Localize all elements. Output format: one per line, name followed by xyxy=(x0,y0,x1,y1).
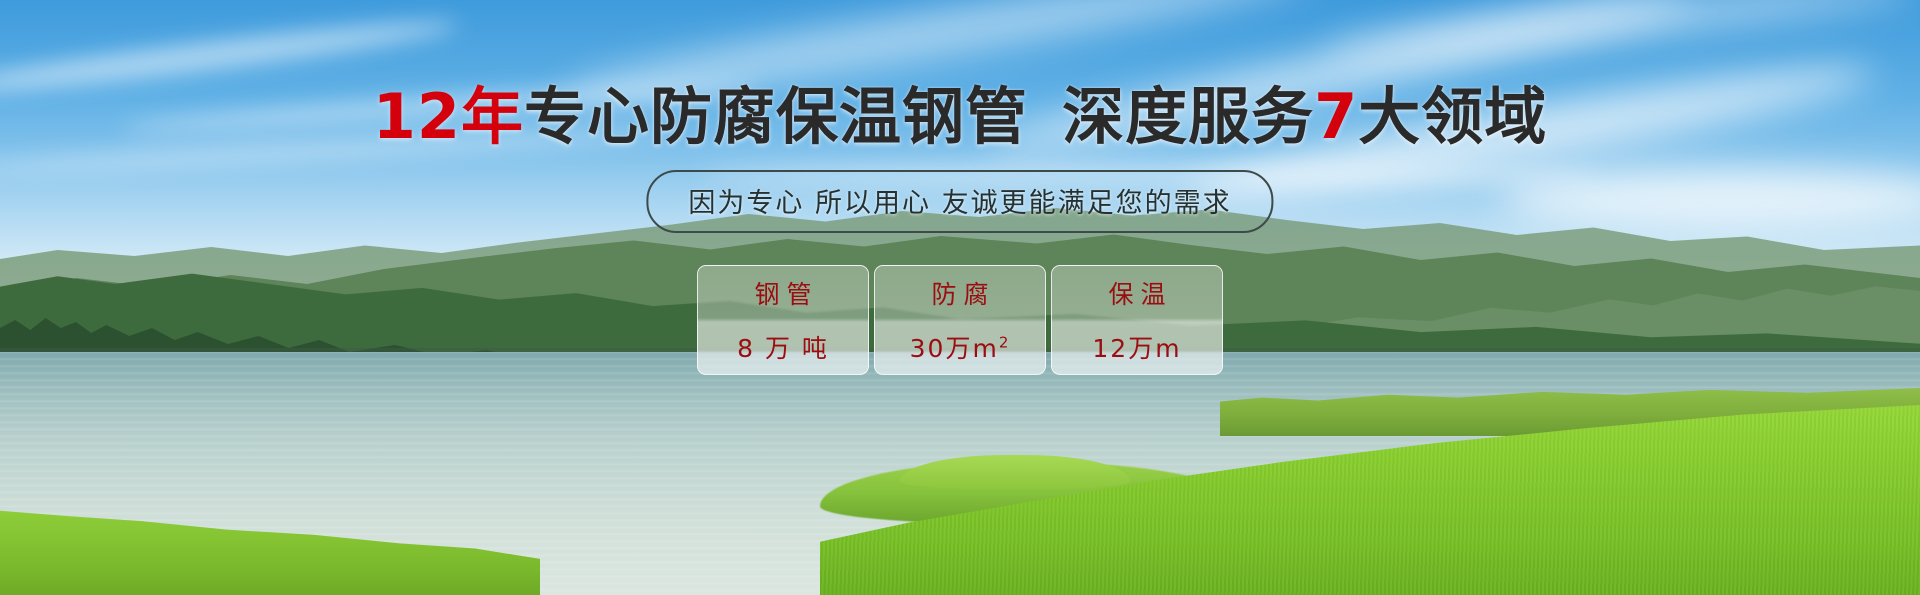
stat-card-value: 30万m2 xyxy=(910,329,1011,365)
headline-main-right-lead: 深度服务 xyxy=(1062,80,1314,153)
headline-fields-number: 7 xyxy=(1314,80,1358,153)
banner-content: 12年专心防腐保温钢管深度服务7大领域 因为专心 所以用心 友诚更能满足您的需求… xyxy=(0,0,1920,595)
stat-card-value-superscript: 2 xyxy=(999,334,1011,352)
promo-banner: 12年专心防腐保温钢管深度服务7大领域 因为专心 所以用心 友诚更能满足您的需求… xyxy=(0,0,1920,595)
stat-card-insulation[interactable]: 保温 12万m xyxy=(1051,265,1223,375)
headline: 12年专心防腐保温钢管深度服务7大领域 xyxy=(0,86,1920,148)
headline-years-unit: 年 xyxy=(461,80,524,153)
stat-card-title: 防腐 xyxy=(924,275,995,311)
headline-years-number: 12 xyxy=(373,80,461,153)
tagline-pill: 因为专心 所以用心 友诚更能满足您的需求 xyxy=(646,170,1273,233)
headline-main-right-tail: 大领域 xyxy=(1358,80,1547,153)
stat-card-anticorrosion[interactable]: 防腐 30万m2 xyxy=(874,265,1046,375)
stat-card-title: 钢管 xyxy=(747,275,818,311)
stat-card-value: 12万m xyxy=(1092,329,1181,365)
stat-card-value-text: 8 万 吨 xyxy=(737,334,829,363)
stat-card-value-text: 30万m xyxy=(910,334,999,363)
headline-main-left: 专心防腐保温钢管 xyxy=(524,80,1028,153)
stat-card-value-text: 12万m xyxy=(1092,334,1181,363)
stat-card-list: 钢管 8 万 吨 防腐 30万m2 保温 12万m xyxy=(697,265,1223,375)
stat-card-steel-pipe[interactable]: 钢管 8 万 吨 xyxy=(697,265,869,375)
stat-card-title: 保温 xyxy=(1101,275,1172,311)
stat-card-value: 8 万 吨 xyxy=(737,329,829,365)
